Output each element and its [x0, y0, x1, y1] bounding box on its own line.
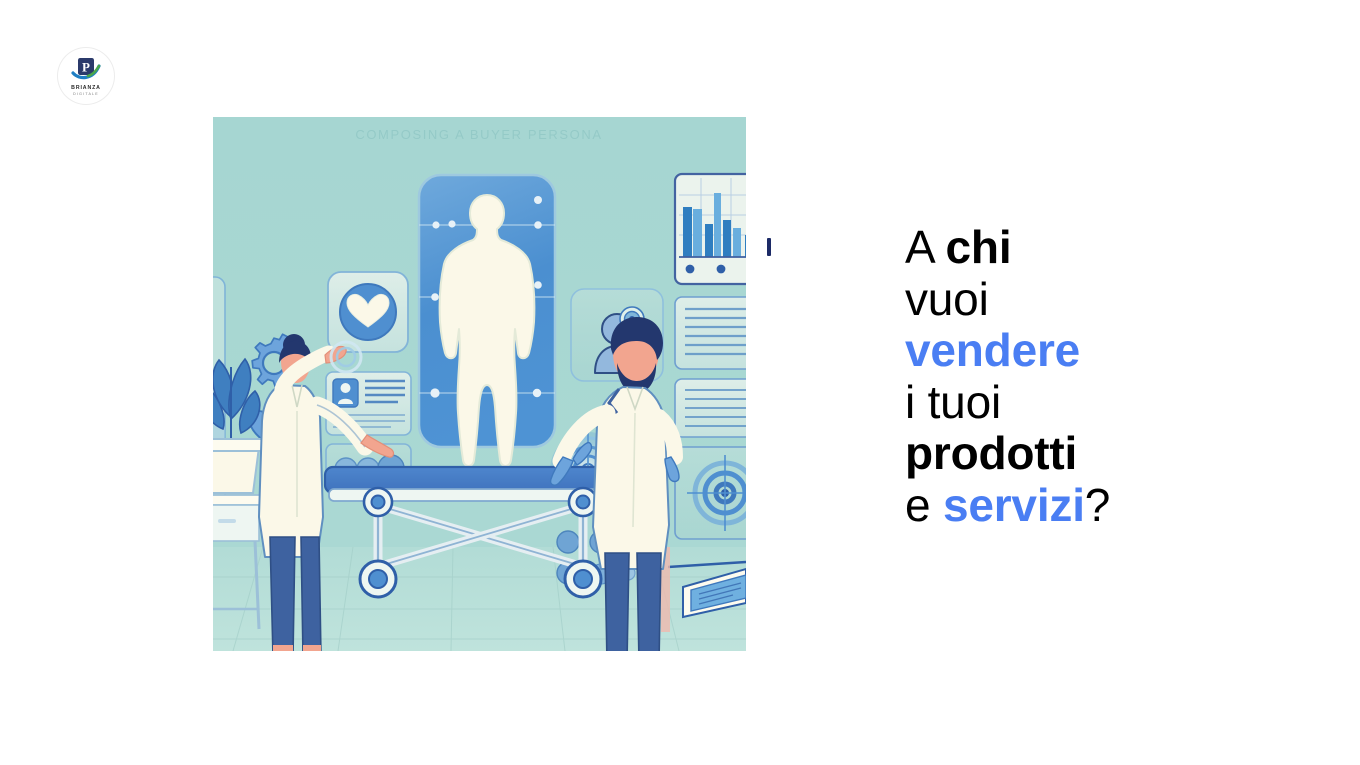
illustration-caption: COMPOSING A BUYER PERSONA — [355, 127, 602, 142]
edge-artifact-mark — [767, 238, 771, 256]
body-scan-panel — [419, 175, 555, 466]
headline: A chi vuoi vendere i tuoi prodotti e ser… — [905, 222, 1325, 531]
headline-seg: ? — [1085, 479, 1110, 531]
brand-logo-subword: DIGITALE — [73, 92, 99, 96]
headline-line-1: A chi — [905, 222, 1325, 274]
headline-line-2: vuoi — [905, 274, 1325, 326]
headline-seg-bold: chi — [946, 221, 1012, 273]
headline-seg-bold: prodotti — [905, 427, 1077, 479]
headline-seg: i tuoi — [905, 376, 1001, 428]
headline-seg-highlight: servizi — [943, 479, 1085, 531]
headline-line-6: e servizi? — [905, 480, 1325, 532]
headline-seg: e — [905, 479, 943, 531]
brand-logo[interactable]: P BRIANZA DIGITALE — [58, 48, 114, 104]
svg-text:P: P — [82, 60, 90, 75]
headline-seg-highlight: vendere — [905, 324, 1080, 376]
headline-seg: A — [905, 221, 946, 273]
text-lines-panel-2 — [675, 379, 746, 437]
bullseye-panel — [675, 447, 746, 539]
text-lines-panel — [675, 297, 746, 369]
headline-line-4: i tuoi — [905, 377, 1325, 429]
bar-chart-panel — [675, 174, 746, 284]
buyer-persona-illustration: COMPOSING A BUYER PERSONA — [213, 117, 746, 651]
headline-seg: vuoi — [905, 273, 989, 325]
headline-line-3: vendere — [905, 325, 1325, 377]
headline-line-5: prodotti — [905, 428, 1325, 480]
brand-logo-mark: P — [71, 57, 101, 83]
heart-circle-card — [328, 272, 408, 352]
